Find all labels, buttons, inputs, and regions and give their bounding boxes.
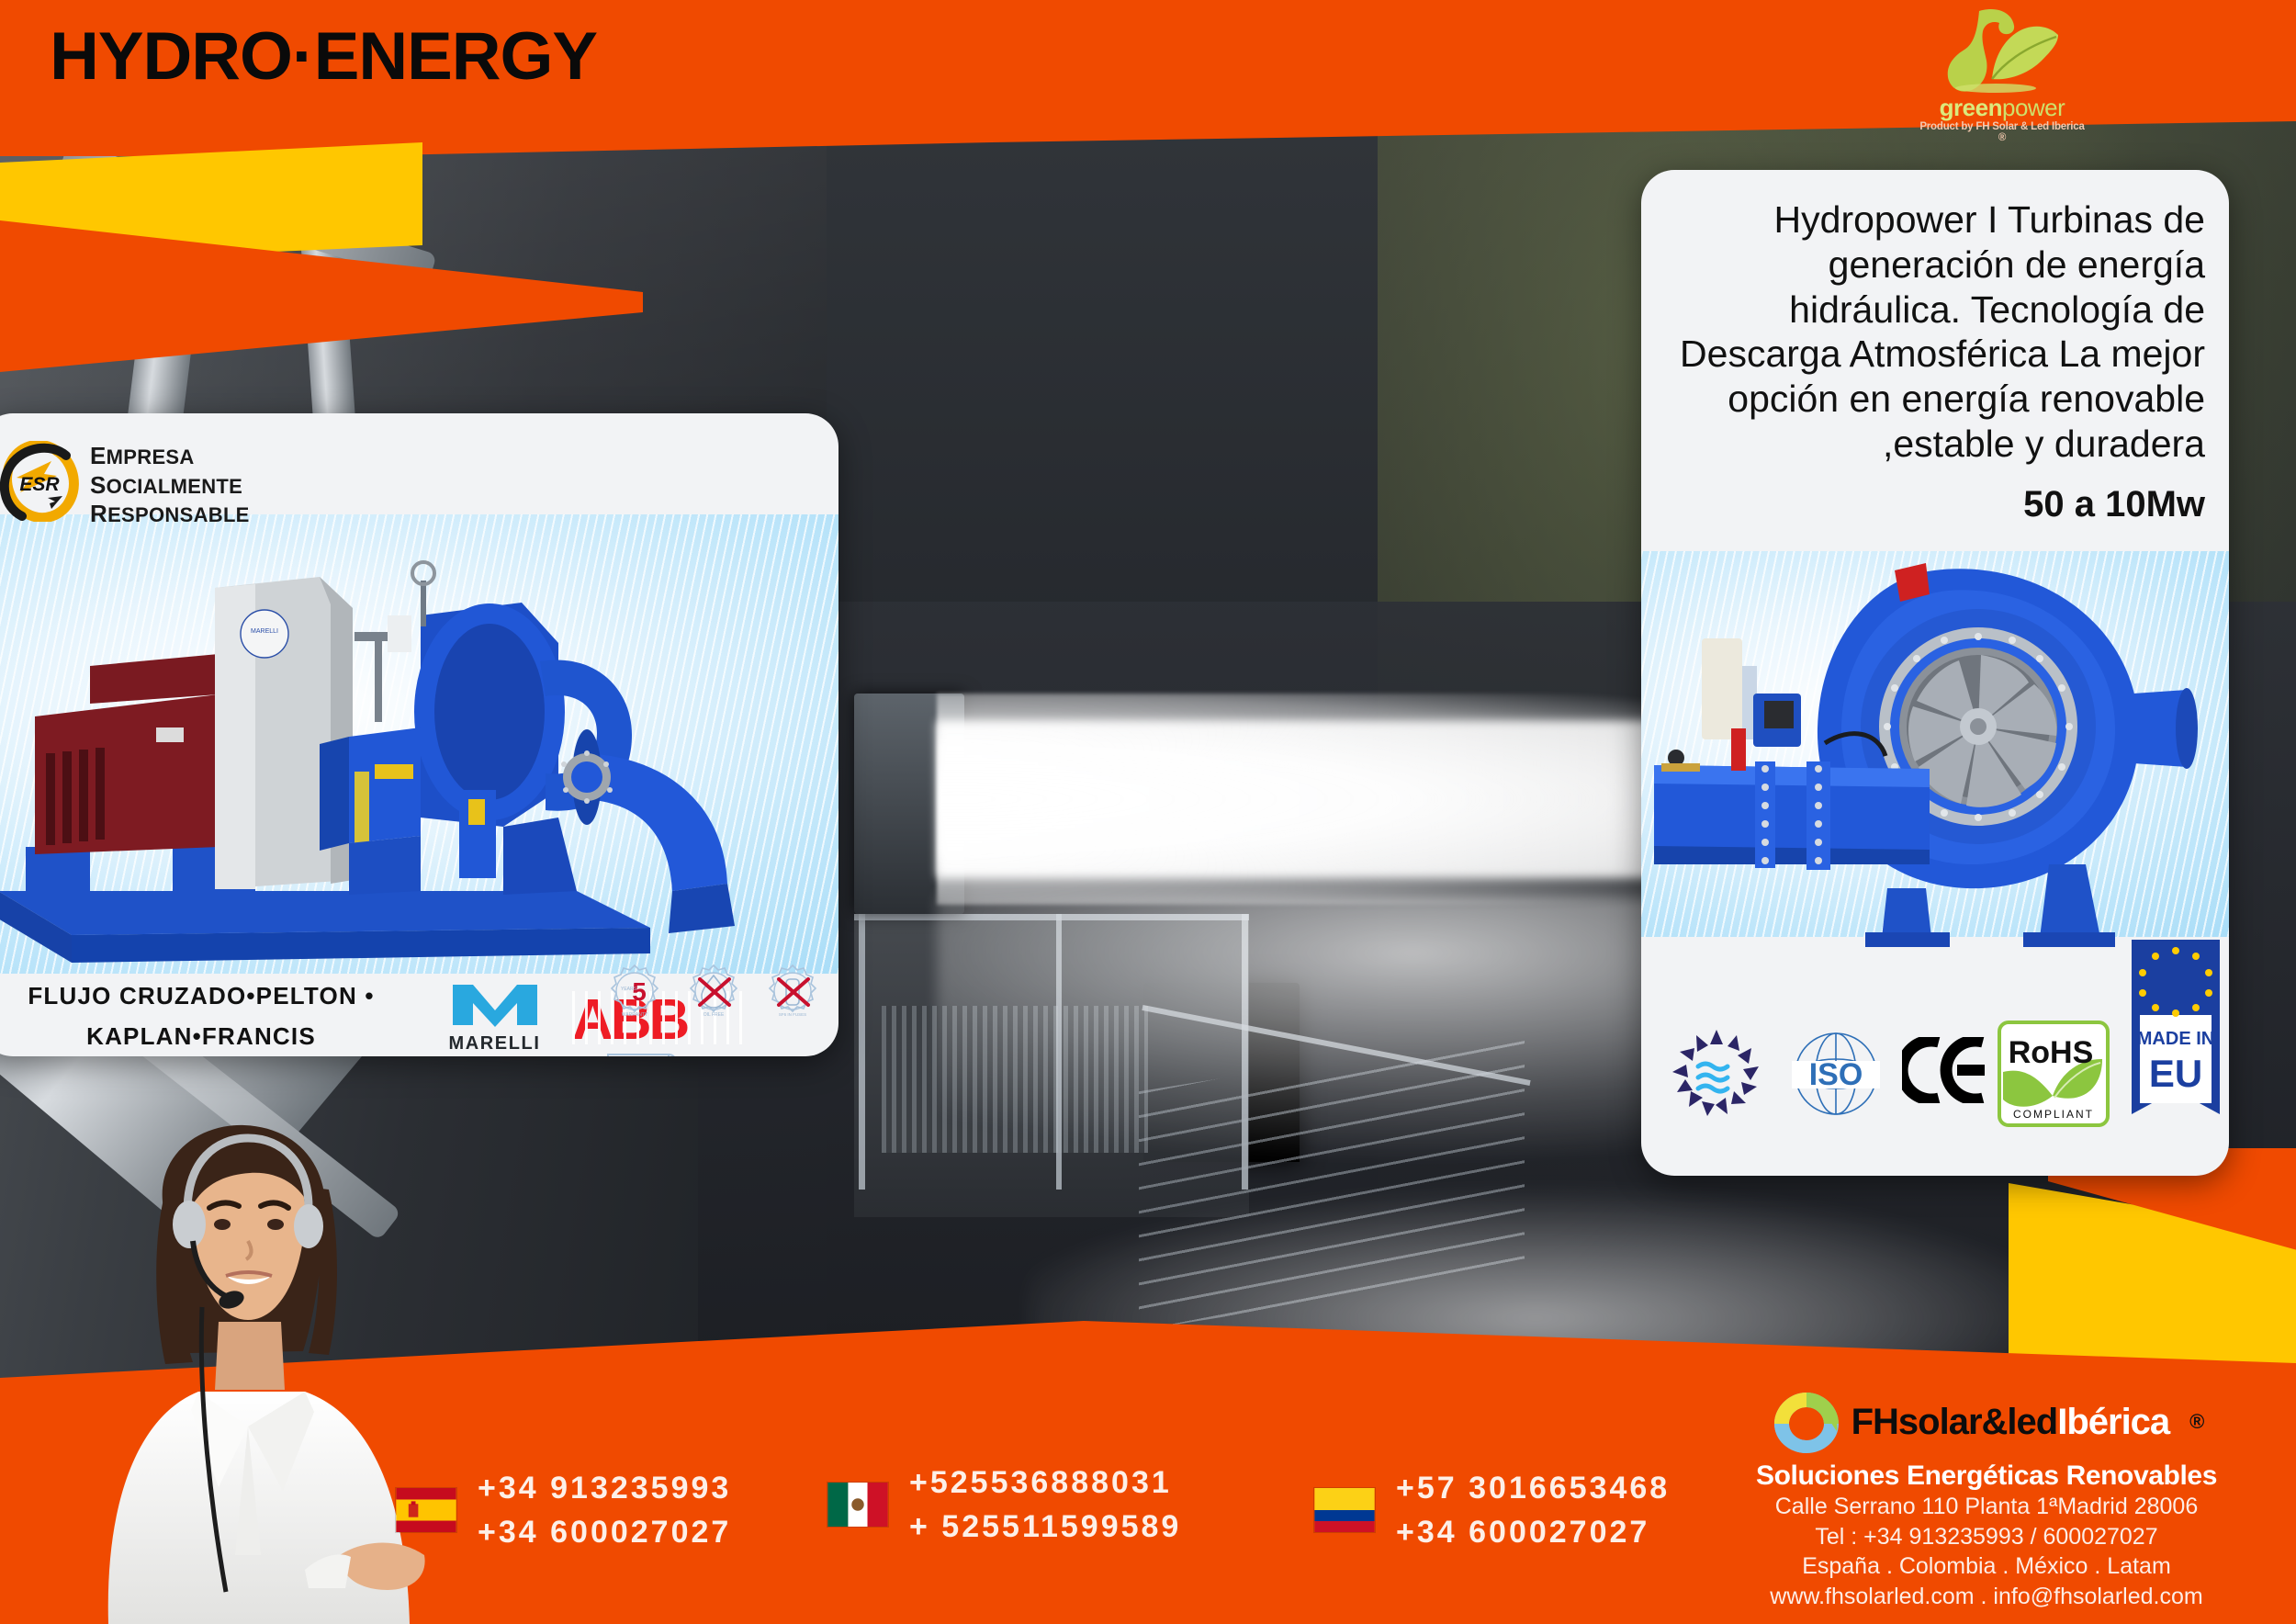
esr-line2: OCIALMENTE xyxy=(107,475,242,498)
company-name-light: Ibérica xyxy=(2057,1402,2169,1442)
rohs-icon: RoHS COMPLIANT xyxy=(1998,1021,2110,1132)
iso-icon: ISO xyxy=(1784,1024,1887,1128)
company-web-email: www.fhsolarled.com . info@fhsolarled.com xyxy=(1697,1582,2276,1612)
svg-text:ISO: ISO xyxy=(1809,1057,1863,1092)
warranty-badges-group: 5 YEARS WARRANTY OIL FREE xyxy=(604,963,825,1051)
certifications-row: ISO RoHS COMPLIANT xyxy=(1661,1004,2212,1142)
greenpower-word-green: green xyxy=(1940,94,2002,121)
svg-text:SF6 IN FUSES: SF6 IN FUSES xyxy=(779,1012,806,1017)
company-logo-row: FHsolar&ledIbérica ® xyxy=(1697,1387,2276,1457)
esr-logo: ESR EMPRESA SOCIALMENTE RESPONSABLE xyxy=(0,439,274,524)
turbine-types-line-1: FLUJO CRUZADO•PELTON • xyxy=(0,976,417,1016)
turbine-types-label: FLUJO CRUZADO•PELTON • KAPLAN•FRANCIS xyxy=(0,976,417,1056)
company-info: FHsolar&ledIbérica ® Soluciones Energéti… xyxy=(1697,1387,2276,1611)
spain-flag-icon xyxy=(395,1487,457,1533)
esr-wordmark: EMPRESA SOCIALMENTE RESPONSABLE xyxy=(90,442,250,529)
marelli-logo: MARELLI xyxy=(437,979,552,1054)
esr-line1: MPRESA xyxy=(107,445,195,468)
warranty-badge: 5 YEARS WARRANTY xyxy=(604,963,665,1023)
company-telephone: Tel : +34 913235993 / 600027027 xyxy=(1697,1522,2276,1552)
spain-number-1: +34 913235993 xyxy=(478,1466,731,1510)
company-name: FHsolar&ledIbérica xyxy=(1851,1402,2170,1443)
mexico-number-1: +525536888031 xyxy=(909,1460,1181,1505)
mexico-number-2: + 525511599589 xyxy=(909,1505,1181,1549)
greenpower-word-power: power xyxy=(2002,94,2065,121)
right-product-card: Hydropower I Turbinas de generación de e… xyxy=(1641,170,2229,1176)
svg-text:WARRANTY: WARRANTY xyxy=(622,1012,648,1018)
fhsolarled-logo-icon xyxy=(1769,1387,1844,1457)
contact-numbers: +34 913235993 +34 600027027 +52553688803… xyxy=(395,1451,1708,1571)
company-regions: España . Colombia . México . Latam xyxy=(1697,1551,2276,1582)
greenpower-logo: greenpower Product by FH Solar & Led Ibe… xyxy=(1915,7,2089,145)
mexico-flag-icon xyxy=(827,1482,889,1528)
right-card-power-range: 50 a 10Mw xyxy=(1665,484,2205,525)
rohs-compliant-label: COMPLIANT xyxy=(2013,1108,2094,1121)
water-turbine-icon xyxy=(1669,1026,1764,1126)
contact-mexico: +525536888031 + 525511599589 xyxy=(827,1460,1181,1550)
eu-label: EU xyxy=(2149,1052,2202,1095)
svg-text:YEARS: YEARS xyxy=(621,987,637,992)
mexico-numbers: +525536888031 + 525511599589 xyxy=(909,1460,1181,1550)
turbine-generator-image: MARELLI xyxy=(0,524,797,983)
header-band: HYDRO·ENERGY greenpower Product by FH So… xyxy=(0,0,2296,156)
contact-colombia: +57 3016653468 +34 600027027 xyxy=(1313,1466,1670,1555)
spain-number-2: +34 600027027 xyxy=(478,1510,731,1554)
cei-certificate-icon: CEI 0-21 xyxy=(601,1047,702,1056)
made-in-eu-icon: MADE IN EU xyxy=(2132,940,2220,1146)
registered-mark: ® xyxy=(2189,1410,2204,1434)
esr-line3: ESPONSABLE xyxy=(107,503,250,526)
esr-line3-initial: R xyxy=(90,500,107,527)
left-product-card: MARELLI xyxy=(0,413,838,1056)
colombia-flag-icon xyxy=(1313,1487,1376,1533)
marelli-m-icon xyxy=(449,979,541,1027)
spain-numbers: +34 913235993 +34 600027027 xyxy=(478,1466,731,1555)
oil-free-badge: OIL FREE xyxy=(683,963,744,1023)
right-card-description: Hydropower I Turbinas de generación de e… xyxy=(1665,197,2205,467)
francis-turbine-image xyxy=(1654,537,2220,951)
greenpower-tagline: Product by FH Solar & Led Iberica ® xyxy=(1915,121,2089,143)
no-sf6-badge: SF6 IN FUSES xyxy=(762,963,823,1023)
hydro-energy-poster: HYDRO·ENERGY greenpower Product by FH So… xyxy=(0,0,2296,1624)
page-title: HYDRO·ENERGY xyxy=(50,18,597,95)
colombia-numbers: +57 3016653468 +34 600027027 xyxy=(1396,1466,1670,1555)
marelli-wordmark: MARELLI xyxy=(437,1033,552,1054)
flexing-arm-leaf-icon xyxy=(1941,7,2060,96)
esr-line1-initial: E xyxy=(90,442,107,469)
turbine-types-line-2: KAPLAN•FRANCIS xyxy=(0,1016,417,1056)
company-tagline: Soluciones Energéticas Renovables xyxy=(1697,1460,2276,1492)
svg-text:MARELLI: MARELLI xyxy=(251,628,278,635)
esr-line2-initial: S xyxy=(90,471,107,499)
svg-text:OIL FREE: OIL FREE xyxy=(703,1012,725,1018)
company-address: Calle Serrano 110 Planta 1ªMadrid 28006 xyxy=(1697,1492,2276,1522)
svg-text:ESR: ESR xyxy=(19,474,60,495)
colombia-number-2: +34 600027027 xyxy=(1396,1510,1670,1554)
ce-mark-icon xyxy=(1902,1037,1986,1108)
made-in-label: MADE IN xyxy=(2137,1029,2214,1049)
colombia-number-1: +57 3016653468 xyxy=(1396,1466,1670,1510)
esr-ring-icon: ESR xyxy=(0,441,83,522)
svg-text:RoHS: RoHS xyxy=(2009,1035,2094,1070)
customer-service-agent-photo xyxy=(64,1123,450,1624)
company-name-dark: FHsolar&led xyxy=(1851,1402,2058,1442)
greenpower-wordmark: greenpower xyxy=(1915,94,2089,122)
contact-spain: +34 913235993 +34 600027027 xyxy=(395,1466,731,1555)
platform-railing-post-1 xyxy=(859,914,865,1190)
